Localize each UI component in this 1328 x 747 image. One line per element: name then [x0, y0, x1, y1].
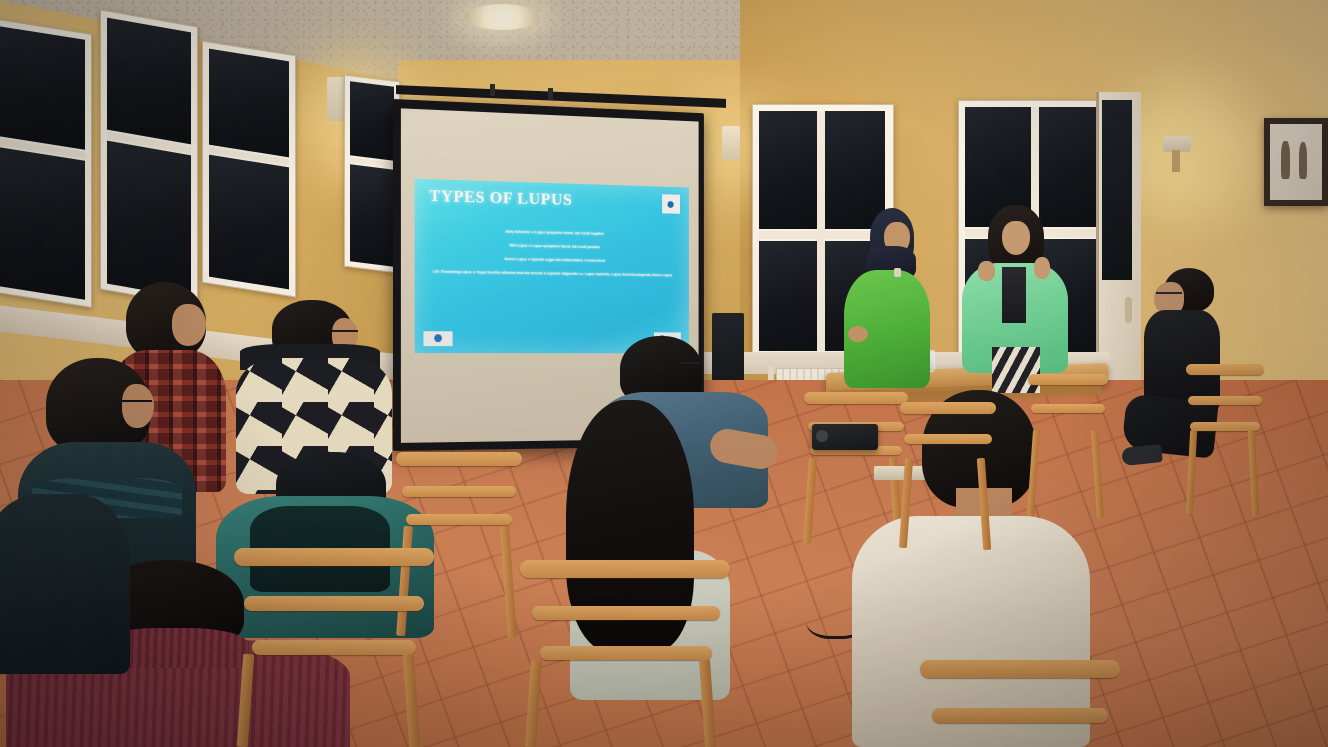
bentwood-chair[interactable] [234, 548, 434, 747]
slide-corner-mark-icon [662, 194, 680, 214]
presenter-hijab [838, 208, 934, 388]
attendee-far-left [0, 494, 130, 674]
screen-hook-2 [548, 88, 553, 100]
bentwood-chair[interactable] [900, 402, 996, 552]
slide-title: TYPES OF LUPUS [429, 186, 633, 211]
window-left-1 [0, 18, 92, 308]
presenter-kebaya-hand-right [1034, 257, 1050, 279]
slide-bullet: Life Threatening Lupus ➜ Organ function … [432, 269, 673, 278]
door-handle[interactable] [1125, 297, 1132, 323]
presenter-kebaya-hand-left [978, 261, 995, 281]
window-left-4 [344, 75, 400, 274]
bentwood-chair[interactable] [920, 660, 1120, 747]
presenter-hijab-hand [848, 326, 868, 342]
sconce-right-stem [1172, 150, 1180, 172]
bentwood-chair[interactable] [520, 560, 730, 747]
presenter-kebaya-inner [1002, 267, 1026, 323]
door[interactable] [1096, 92, 1141, 392]
window-left-2 [100, 9, 198, 306]
bentwood-chair[interactable] [1186, 360, 1264, 520]
bentwood-chair[interactable] [1028, 374, 1108, 524]
face [172, 304, 206, 346]
glasses-icon [1156, 292, 1182, 299]
framed-artwork [1264, 118, 1328, 206]
slide-bullet-list: Early Detection ➜ Lupus symptoms found, … [432, 228, 673, 286]
slide-bullet: Severe Lupus ➜ Specific organ has inflam… [432, 256, 673, 266]
presenter-kebaya [958, 205, 1070, 390]
brooch-icon [894, 268, 901, 277]
glasses-icon [122, 400, 152, 408]
sconce-center [722, 126, 740, 160]
logo-mark-icon [434, 334, 442, 342]
face [1002, 221, 1030, 255]
window-left-3 [202, 41, 296, 298]
ceiling-light-left [465, 4, 539, 30]
presentation-room-photo: TYPES OF LUPUS Early Detection ➜ Lupus s… [0, 0, 1328, 747]
projector-lens-icon [816, 430, 828, 442]
screen-hook-1 [490, 84, 495, 96]
slide-logo-left [424, 331, 453, 346]
attendee-shoe [1121, 444, 1163, 466]
slide: TYPES OF LUPUS Early Detection ➜ Lupus s… [415, 179, 689, 353]
slide-bullet: Early Detection ➜ Lupus symptoms found, … [432, 228, 673, 239]
glasses-icon [680, 362, 700, 369]
glasses-icon [332, 330, 358, 337]
slide-bullet: Mild Lupus ➜ Lupus symptoms found, lab r… [432, 242, 673, 252]
